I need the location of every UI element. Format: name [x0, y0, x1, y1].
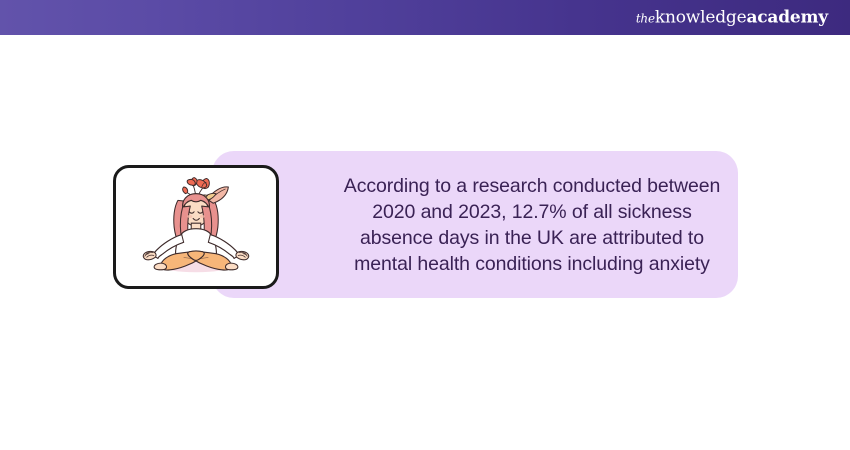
brand-logo[interactable]: theknowledgeacademy [636, 9, 828, 26]
brand-logo-academy: academy [746, 7, 828, 27]
statistic-callout-text: According to a research conducted betwee… [336, 151, 728, 298]
statistic-callout-panel: According to a research conducted betwee… [212, 151, 738, 298]
woman-meditating-lotus-pose-icon [116, 168, 276, 286]
brand-logo-knowledge: knowledge [655, 7, 747, 27]
illustration-card [113, 165, 279, 289]
header-bar: theknowledgeacademy [0, 0, 850, 35]
brand-logo-the: the [636, 11, 655, 25]
